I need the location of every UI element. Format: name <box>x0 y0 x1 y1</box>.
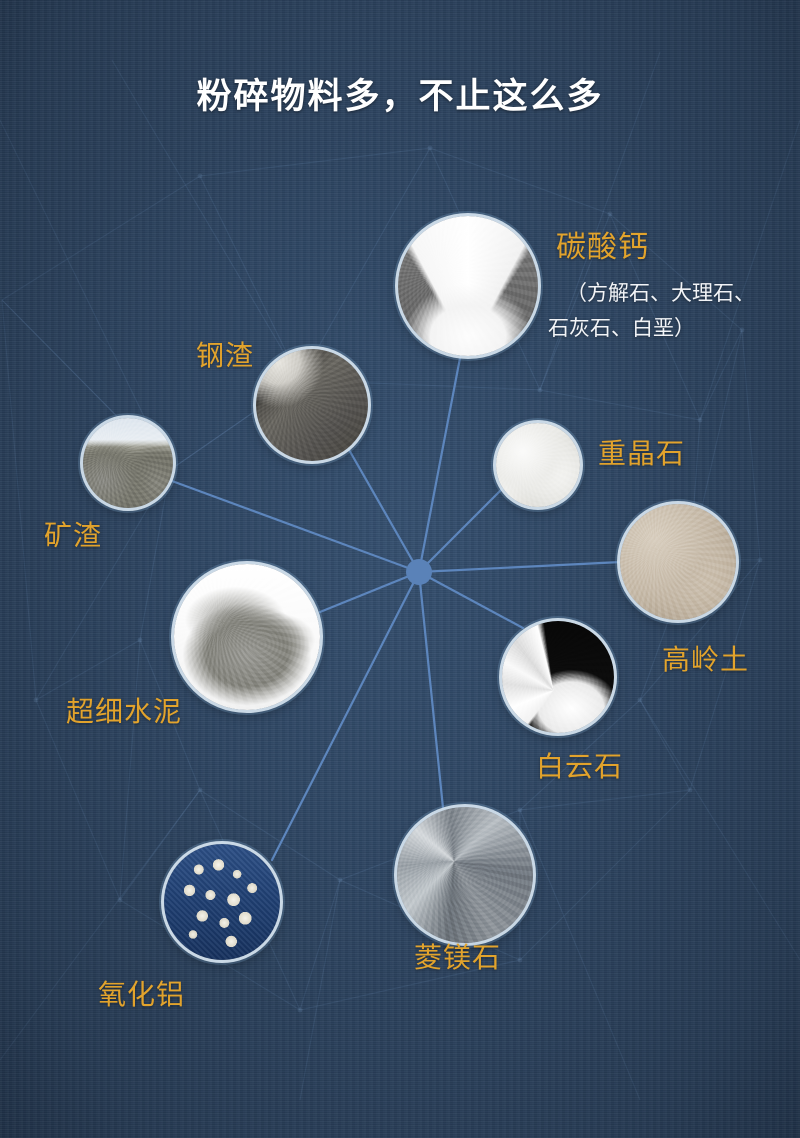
node-barite[interactable] <box>496 423 580 507</box>
label-barite: 重晶石 <box>598 432 685 472</box>
node-magnesite[interactable] <box>397 807 533 943</box>
spoke-ultrafine-cement <box>320 572 419 612</box>
spoke-steel-slag <box>348 448 419 572</box>
poster-canvas: 粉碎物料多，不止这么多 碳酸钙 （方解石、大理石、 石灰石、白垩） 钢渣 <box>0 0 800 1138</box>
sublabel-calcium-carbonate-line1: （方解石、大理石、 <box>566 278 755 311</box>
photo-grain-overlay <box>397 807 533 943</box>
node-dolomite[interactable] <box>502 621 614 733</box>
photo-grain-overlay <box>398 216 538 356</box>
label-steel-slag: 钢渣 <box>196 334 254 374</box>
label-kaolin: 高岭土 <box>662 638 749 678</box>
photo-grain-overlay <box>620 504 736 620</box>
label-dolomite: 白云石 <box>536 745 623 785</box>
spoke-magnesite <box>419 572 443 808</box>
sublabel-calcium-carbonate-line2: 石灰石、白垩） <box>548 313 695 346</box>
spoke-kaolin <box>419 562 621 572</box>
page-title: 粉碎物料多，不止这么多 <box>0 68 800 119</box>
photo-grain-overlay <box>502 621 614 733</box>
node-calcium-carbonate[interactable] <box>398 216 538 356</box>
photo-grain-overlay <box>83 418 173 508</box>
node-alumina[interactable] <box>164 844 280 960</box>
center-hub-node <box>406 559 432 585</box>
spoke-calcium-carbonate <box>419 358 460 572</box>
spoke-dolomite <box>419 572 523 628</box>
photo-grain-overlay <box>174 564 320 710</box>
label-slag: 矿渣 <box>44 514 102 554</box>
photo-grain-overlay <box>256 349 368 461</box>
label-magnesite: 菱镁石 <box>414 936 501 976</box>
photo-grain-overlay <box>496 423 580 507</box>
label-ultrafine-cement: 超细水泥 <box>66 690 182 730</box>
node-kaolin[interactable] <box>620 504 736 620</box>
node-slag[interactable] <box>83 418 173 508</box>
node-ultrafine-cement[interactable] <box>174 564 320 710</box>
spoke-slag <box>172 481 419 572</box>
spoke-barite <box>419 487 504 572</box>
label-alumina: 氧化铝 <box>98 973 185 1013</box>
label-calcium-carbonate: 碳酸钙 <box>556 222 649 266</box>
node-steel-slag[interactable] <box>256 349 368 461</box>
photo-alumina <box>164 844 280 960</box>
